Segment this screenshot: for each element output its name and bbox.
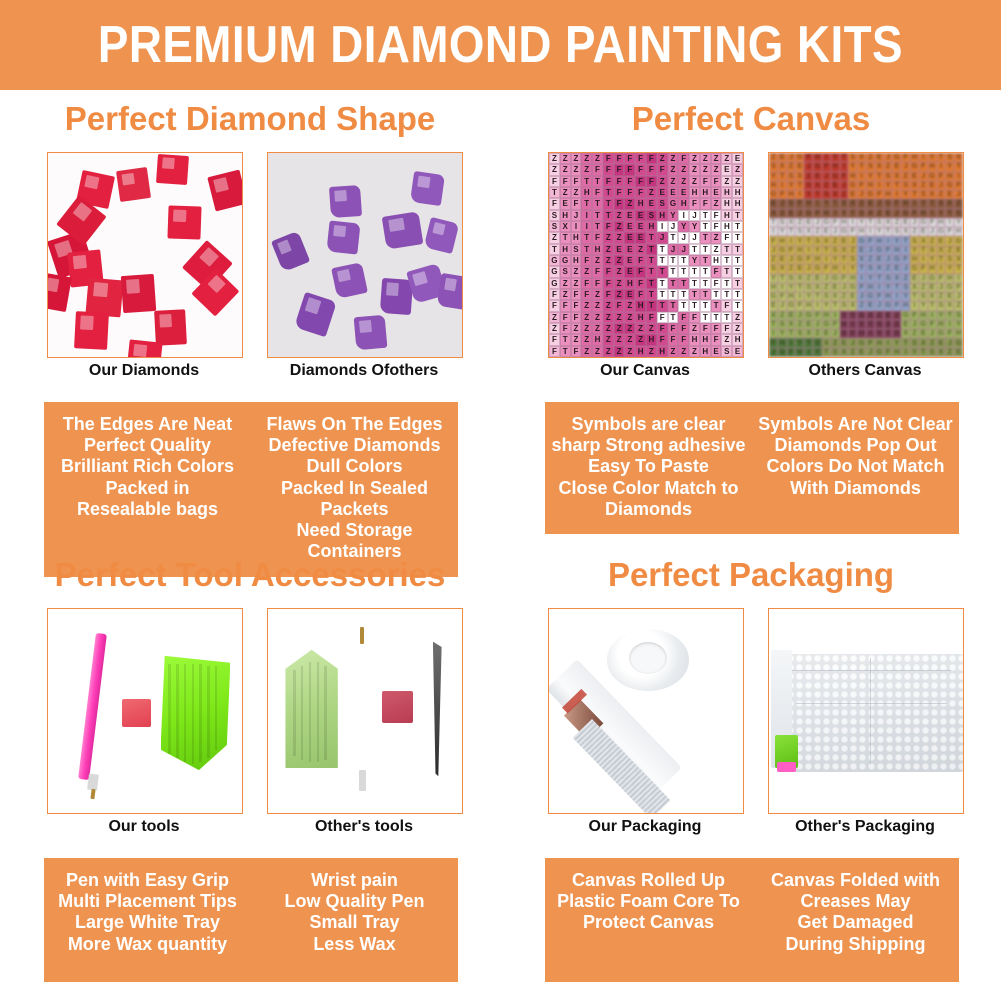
canvas-color-cell: G	[928, 172, 937, 181]
canvas-color-cell: F	[813, 209, 822, 218]
canvas-color-cell: E	[840, 338, 849, 347]
canvas-color-cell: E	[795, 162, 804, 171]
red-diamonds-photo	[48, 153, 242, 357]
canvas-symbol-cell: T	[646, 232, 657, 243]
canvas-color-cell: E	[954, 246, 963, 255]
panel-others: Canvas Folded with Creases May Get Damag…	[752, 870, 959, 968]
canvas-color-cell: G	[822, 320, 831, 329]
canvas-symbol-cell: Z	[614, 323, 625, 334]
canvas-symbol-cell: F	[635, 255, 646, 266]
canvas-color-cell: H	[901, 301, 910, 310]
canvas-symbol-cell: T	[581, 232, 592, 243]
canvas-symbol-cell: I	[678, 210, 689, 221]
canvas-color-cell: Z	[937, 292, 946, 301]
caption-other-tools: Other's tools	[267, 818, 461, 836]
canvas-color-cell: Z	[884, 264, 893, 273]
canvas-symbol-cell: T	[732, 300, 743, 311]
canvas-symbol-cell: T	[668, 312, 679, 323]
canvas-symbol-cell: Z	[624, 312, 635, 323]
canvas-symbol-cell: Z	[581, 164, 592, 175]
canvas-color-cell: F	[937, 274, 946, 283]
canvas-symbol-cell: F	[592, 266, 603, 277]
canvas-symbol-cell: T	[689, 266, 700, 277]
canvas-color-cell: J	[901, 264, 910, 273]
canvas-symbol-cell: H	[700, 346, 711, 357]
canvas-symbol-cell: T	[657, 266, 668, 277]
canvas-color-cell: Z	[875, 209, 884, 218]
canvas-color-cell: G	[892, 255, 901, 264]
canvas-color-cell: S	[857, 209, 866, 218]
canvas-color-cell: T	[875, 172, 884, 181]
canvas-symbol-cell: F	[689, 198, 700, 209]
canvas-symbol-cell: T	[700, 232, 711, 243]
canvas-color-cell: Z	[848, 246, 857, 255]
canvas-symbol-cell: E	[560, 198, 571, 209]
canvas-symbol-cell: F	[711, 334, 722, 345]
canvas-symbol-cell: F	[592, 164, 603, 175]
canvas-symbol-cell: T	[700, 210, 711, 221]
canvas-color-cell: Y	[778, 227, 787, 236]
canvas-symbol-cell: T	[646, 300, 657, 311]
canvas-symbol-cell: F	[603, 289, 614, 300]
canvas-color-cell: J	[892, 311, 901, 320]
canvas-symbol-cell: F	[700, 198, 711, 209]
canvas-color-cell: F	[875, 292, 884, 301]
canvas-symbol-cell: F	[635, 176, 646, 187]
caption-our-packaging: Our Packaging	[548, 818, 742, 836]
canvas-color-cell: T	[937, 153, 946, 162]
green-tray	[161, 656, 231, 770]
canvas-symbol-cell: T	[678, 255, 689, 266]
canvas-color-cell: J	[910, 218, 919, 227]
canvas-color-cell: X	[831, 190, 840, 199]
canvas-color-cell: T	[928, 301, 937, 310]
canvas-color-cell: T	[848, 209, 857, 218]
canvas-color-cell: Z	[831, 338, 840, 347]
canvas-color-cell: S	[813, 236, 822, 245]
canvas-color-cell: Y	[840, 209, 849, 218]
canvas-symbol-cell: F	[614, 187, 625, 198]
canvas-color-cell: F	[778, 292, 787, 301]
canvas-symbol-cell: Y	[689, 255, 700, 266]
canvas-color-cell: S	[892, 227, 901, 236]
canvas-color-cell: Z	[778, 311, 787, 320]
canvas-symbol-cell: F	[624, 153, 635, 164]
canvas-color-cell: T	[822, 246, 831, 255]
canvas-color-cell: X	[884, 218, 893, 227]
canvas-color-cell: S	[769, 162, 778, 171]
canvas-color-cell: H	[892, 348, 901, 357]
canvas-color-cell: X	[866, 209, 875, 218]
canvas-symbol-cell: T	[700, 312, 711, 323]
canvas-color-cell: J	[787, 255, 796, 264]
canvas-symbol-cell: Z	[571, 187, 582, 198]
canvas-color-cell: S	[875, 218, 884, 227]
canvas-color-cell: X	[769, 311, 778, 320]
canvas-color-cell: F	[769, 338, 778, 347]
canvas-color-cell: H	[778, 236, 787, 245]
canvas-color-cell: X	[778, 162, 787, 171]
canvas-symbol-cell: Z	[592, 153, 603, 164]
canvas-symbol-cell: E	[711, 346, 722, 357]
canvas-symbol-cell: Z	[721, 176, 732, 187]
canvas-color-cell: T	[804, 338, 813, 347]
canvas-color-cell: E	[884, 311, 893, 320]
canvas-color-cell: G	[769, 190, 778, 199]
canvas-symbol-cell: T	[581, 198, 592, 209]
canvas-symbol-cell: F	[689, 312, 700, 323]
canvas-color-cell: X	[928, 292, 937, 301]
canvas-symbol-cell: H	[689, 187, 700, 198]
canvas-symbol-cell: Z	[549, 153, 560, 164]
canvas-color-cell: Y	[937, 311, 946, 320]
canvas-color-cell: T	[945, 209, 954, 218]
canvas-symbol-cell: H	[700, 334, 711, 345]
canvas-color-cell: S	[945, 153, 954, 162]
panel-others: Symbols Are Not Clear Diamonds Pop Out C…	[752, 414, 959, 520]
canvas-color-cell: T	[813, 190, 822, 199]
canvas-color-cell: I	[813, 301, 822, 310]
canvas-symbol-cell: Z	[592, 323, 603, 334]
canvas-color-cell: I	[840, 264, 849, 273]
canvas-color-cell: H	[875, 338, 884, 347]
canvas-symbol-cell: F	[603, 153, 614, 164]
canvas-symbol-cell: Z	[614, 278, 625, 289]
canvas-symbol-cell: F	[711, 221, 722, 232]
canvas-color-cell: T	[840, 153, 849, 162]
canvas-color-cell: H	[769, 283, 778, 292]
canvas-symbol-cell: T	[560, 232, 571, 243]
canvas-symbol-cell: T	[732, 210, 743, 221]
section-title: Perfect Canvas	[501, 100, 1001, 138]
canvas-color-cell: H	[848, 274, 857, 283]
canvas-color-cell: G	[884, 301, 893, 310]
canvas-color-cell: S	[769, 264, 778, 273]
canvas-color-cell: E	[857, 348, 866, 357]
canvas-color-cell: X	[910, 283, 919, 292]
canvas-symbol-cell: Z	[571, 334, 582, 345]
canvas-symbol-cell: T	[657, 255, 668, 266]
comparison-panel: Symbols are clear sharp Strong adhesive …	[545, 402, 959, 534]
canvas-symbol-cell: T	[721, 266, 732, 277]
canvas-color-cell: J	[778, 301, 787, 310]
canvas-symbol-cell: Z	[711, 232, 722, 243]
canvas-color-cell: I	[769, 227, 778, 236]
canvas-symbol-cell: H	[721, 210, 732, 221]
canvas-symbol-cell: F	[592, 278, 603, 289]
canvas-color-cell: J	[866, 348, 875, 357]
canvas-symbol-cell: E	[711, 187, 722, 198]
canvas-color-cell: S	[954, 311, 963, 320]
canvas-symbol-cell: E	[635, 221, 646, 232]
canvas-color-cell: X	[857, 153, 866, 162]
canvas-color-cell: H	[875, 236, 884, 245]
canvas-color-cell: E	[875, 153, 884, 162]
canvas-color-cell: G	[778, 348, 787, 357]
canvas-symbol-cell: Z	[668, 164, 679, 175]
canvas-color-cell: X	[910, 181, 919, 190]
canvas-symbol-cell: T	[700, 266, 711, 277]
canvas-color-cell: H	[866, 181, 875, 190]
canvas-color-cell: G	[875, 246, 884, 255]
canvas-color-cell: Y	[875, 329, 884, 338]
canvas-symbol-cell: T	[646, 266, 657, 277]
canvas-symbol-cell: T	[678, 289, 689, 300]
canvas-symbol-cell: Z	[732, 164, 743, 175]
canvas-symbol-cell: T	[592, 221, 603, 232]
section-packaging: Perfect Packaging	[501, 546, 1001, 1001]
canvas-color-cell: J	[831, 329, 840, 338]
canvas-symbol-cell: F	[549, 198, 560, 209]
canvas-symbol-cell: H	[657, 210, 668, 221]
canvas-symbol-cell: F	[635, 187, 646, 198]
canvas-color-cell: H	[945, 172, 954, 181]
canvas-color-cell: H	[857, 227, 866, 236]
pen-metal-tip	[360, 627, 364, 643]
canvas-symbol-cell: H	[657, 346, 668, 357]
canvas-symbol-cell: Z	[635, 244, 646, 255]
canvas-symbol-cell: Z	[646, 187, 657, 198]
pen-tip	[359, 770, 366, 790]
canvas-color-cell: Y	[910, 246, 919, 255]
canvas-symbol-cell: F	[549, 289, 560, 300]
canvas-color-cell: Y	[910, 348, 919, 357]
canvas-color-cell: Z	[884, 162, 893, 171]
canvas-color-cell: I	[919, 255, 928, 264]
canvas-symbol-cell: Z	[603, 255, 614, 266]
canvas-symbol-cell: F	[635, 153, 646, 164]
canvas-color-cell: E	[901, 218, 910, 227]
canvas-color-cell: X	[787, 218, 796, 227]
canvas-symbol-cell: Z	[560, 278, 571, 289]
canvas-symbol-cell: T	[668, 278, 679, 289]
canvas-symbol-cell: Z	[560, 187, 571, 198]
canvas-symbol-cell: T	[721, 312, 732, 323]
canvas-color-cell: I	[937, 264, 946, 273]
canvas-color-cell: T	[875, 274, 884, 283]
panel-others: Wrist pain Low Quality Pen Small Tray Le…	[251, 870, 458, 968]
canvas-color-cell: I	[787, 338, 796, 347]
canvas-color-cell: F	[954, 181, 963, 190]
canvas-color-cell: G	[813, 264, 822, 273]
canvas-symbol-cell: Z	[635, 334, 646, 345]
canvas-color-cell: X	[857, 255, 866, 264]
tweezers	[433, 642, 442, 777]
canvas-symbol-cell: Z	[614, 232, 625, 243]
canvas-symbol-cell: H	[560, 210, 571, 221]
canvas-color-cell: Z	[866, 255, 875, 264]
canvas-symbol-cell: Z	[603, 312, 614, 323]
canvas-color-cell: F	[857, 283, 866, 292]
canvas-color-cell: S	[795, 329, 804, 338]
canvas-symbol-cell: F	[549, 176, 560, 187]
canvas-color-cell: X	[892, 172, 901, 181]
canvas-color-cell: J	[919, 172, 928, 181]
canvas-color-cell: F	[919, 264, 928, 273]
canvas-symbol-cell: T	[657, 289, 668, 300]
canvas-symbol-cell: Z	[668, 346, 679, 357]
canvas-symbol-cell: G	[668, 198, 679, 209]
canvas-color-cell: H	[866, 283, 875, 292]
canvas-symbol-cell: T	[646, 289, 657, 300]
canvas-color-cell: Z	[954, 199, 963, 208]
canvas-symbol-cell: T	[700, 289, 711, 300]
canvas-color-cell: I	[804, 246, 813, 255]
canvas-symbol-cell: J	[689, 210, 700, 221]
canvas-symbol-cell: G	[549, 255, 560, 266]
canvas-color-cell: J	[910, 320, 919, 329]
canvas-color-cell: I	[884, 338, 893, 347]
canvas-color-cell: I	[884, 236, 893, 245]
caption-other-packaging: Other's Packaging	[768, 818, 962, 836]
canvas-symbol-cell: F	[603, 221, 614, 232]
canvas-symbol-cell: Z	[711, 244, 722, 255]
image-pair	[0, 608, 500, 814]
section-title: Perfect Packaging	[501, 556, 1001, 594]
other-tools-photo	[268, 609, 462, 813]
canvas-symbol-cell: Z	[571, 266, 582, 277]
canvas-color-cell: J	[769, 246, 778, 255]
canvas-color-cell: J	[954, 292, 963, 301]
canvas-symbol-cell: H	[646, 334, 657, 345]
canvas-color-cell: Z	[910, 329, 919, 338]
canvas-color-cell: E	[901, 320, 910, 329]
canvas-color-cell: I	[795, 190, 804, 199]
canvas-symbol-cell: T	[603, 198, 614, 209]
canvas-symbol-cell: T	[732, 232, 743, 243]
canvas-color-cell: G	[831, 172, 840, 181]
canvas-symbol-cell: H	[711, 255, 722, 266]
canvas-symbol-cell: F	[549, 346, 560, 357]
canvas-symbol-cell: T	[678, 300, 689, 311]
canvas-color-cell: J	[875, 301, 884, 310]
canvas-color-cell: G	[866, 190, 875, 199]
canvas-color-cell: F	[822, 162, 831, 171]
canvas-color-cell: Z	[831, 236, 840, 245]
canvas-color-cell: I	[919, 153, 928, 162]
canvas-color-cell: G	[804, 311, 813, 320]
canvas-color-cell: S	[892, 329, 901, 338]
canvas-color-cell: T	[910, 292, 919, 301]
canvas-symbol-cell: F	[571, 176, 582, 187]
canvas-color-cell: X	[928, 190, 937, 199]
canvas-color-cell: X	[945, 199, 954, 208]
canvas-color-cell: E	[787, 311, 796, 320]
canvas-symbol-cell: Z	[668, 153, 679, 164]
canvas-symbol-cell: J	[571, 210, 582, 221]
canvas-color-cell: E	[919, 329, 928, 338]
canvas-color-cell: X	[848, 301, 857, 310]
canvas-symbol-cell: F	[646, 164, 657, 175]
canvas-color-cell: X	[787, 320, 796, 329]
canvas-symbol-cell: T	[732, 266, 743, 277]
canvas-symbol-cell: H	[571, 255, 582, 266]
canvas-color-cell: S	[928, 246, 937, 255]
canvas-color-cell: H	[954, 227, 963, 236]
panel-others: Flaws On The Edges Defective Diamonds Du…	[251, 414, 458, 563]
canvas-color-cell: X	[822, 338, 831, 347]
image-pair: ZZZZZFFFFFZZFZZZZEZZZZFFFFFFFZZZZZEZFFFT…	[501, 152, 1001, 358]
canvas-symbol-cell: Z	[603, 232, 614, 243]
canvas-symbol-cell: J	[689, 232, 700, 243]
canvas-color-cell: X	[813, 283, 822, 292]
canvas-symbol-cell: Z	[711, 153, 722, 164]
canvas-symbol-cell: F	[549, 334, 560, 345]
canvas-color-cell: S	[840, 199, 849, 208]
canvas-color-cell: I	[795, 292, 804, 301]
canvas-color-cell: Z	[892, 218, 901, 227]
canvas-symbol-cell: Z	[700, 153, 711, 164]
canvas-color-cell: G	[804, 209, 813, 218]
canvas-symbol-cell: F	[678, 153, 689, 164]
canvas-color-cell: G	[875, 348, 884, 357]
canvas-color-cell: Z	[928, 236, 937, 245]
canvas-symbol-cell: Z	[646, 346, 657, 357]
canvas-color-cell: J	[831, 227, 840, 236]
canvas-symbol-cell: E	[624, 255, 635, 266]
canvas-symbol-cell: Y	[678, 221, 689, 232]
canvas-color-cell: Z	[795, 218, 804, 227]
canvas-color-cell: X	[795, 274, 804, 283]
canvas-color-cell: I	[787, 236, 796, 245]
canvas-color-cell: Z	[795, 320, 804, 329]
canvas-color-cell: T	[945, 311, 954, 320]
canvas-symbol-cell: E	[635, 232, 646, 243]
canvas-color-cell: G	[840, 227, 849, 236]
canvas-color-cell: Y	[954, 218, 963, 227]
canvas-symbol-cell: Y	[668, 210, 679, 221]
canvas-color-cell: Y	[822, 301, 831, 310]
canvas-color-cell: S	[901, 283, 910, 292]
canvas-symbol-cell: Z	[678, 164, 689, 175]
canvas-color-cell: T	[787, 227, 796, 236]
canvas-color-cell: T	[778, 172, 787, 181]
canvas-color-cell: G	[831, 274, 840, 283]
canvas-symbol-cell: H	[678, 198, 689, 209]
canvas-color-cell: F	[840, 274, 849, 283]
canvas-color-cell: Y	[804, 292, 813, 301]
canvas-symbol-cell: X	[560, 221, 571, 232]
canvas-symbol-cell: G	[549, 278, 560, 289]
canvas-symbol-cell: T	[732, 289, 743, 300]
canvas-symbol-cell: J	[678, 244, 689, 255]
canvas-color-cell: G	[795, 255, 804, 264]
canvas-symbol-cell: F	[624, 176, 635, 187]
canvas-color-cell: Y	[831, 255, 840, 264]
canvas-color-cell: Y	[848, 162, 857, 171]
canvas-color-cell: J	[884, 153, 893, 162]
canvas-color-cell: G	[919, 218, 928, 227]
canvas-symbol-cell: F	[657, 164, 668, 175]
canvas-color-cell: I	[848, 218, 857, 227]
canvas-symbol-cell: J	[668, 244, 679, 255]
canvas-color-cell: T	[804, 236, 813, 245]
canvas-symbol-cell: F	[603, 266, 614, 277]
canvas-color-cell: S	[831, 348, 840, 357]
canvas-symbol-cell: F	[646, 176, 657, 187]
canvas-color-cell: H	[892, 246, 901, 255]
canvas-color-cell: E	[928, 283, 937, 292]
canvas-color-cell: S	[813, 338, 822, 347]
canvas-color-cell: S	[937, 199, 946, 208]
canvas-symbol-cell: F	[700, 323, 711, 334]
canvas-symbol-cell: S	[549, 221, 560, 232]
canvas-color-cell: E	[954, 348, 963, 357]
canvas-color-cell: X	[875, 162, 884, 171]
canvas-symbol-cell: Z	[560, 164, 571, 175]
canvas-color-cell: Y	[884, 283, 893, 292]
canvas-color-cell: Z	[901, 172, 910, 181]
